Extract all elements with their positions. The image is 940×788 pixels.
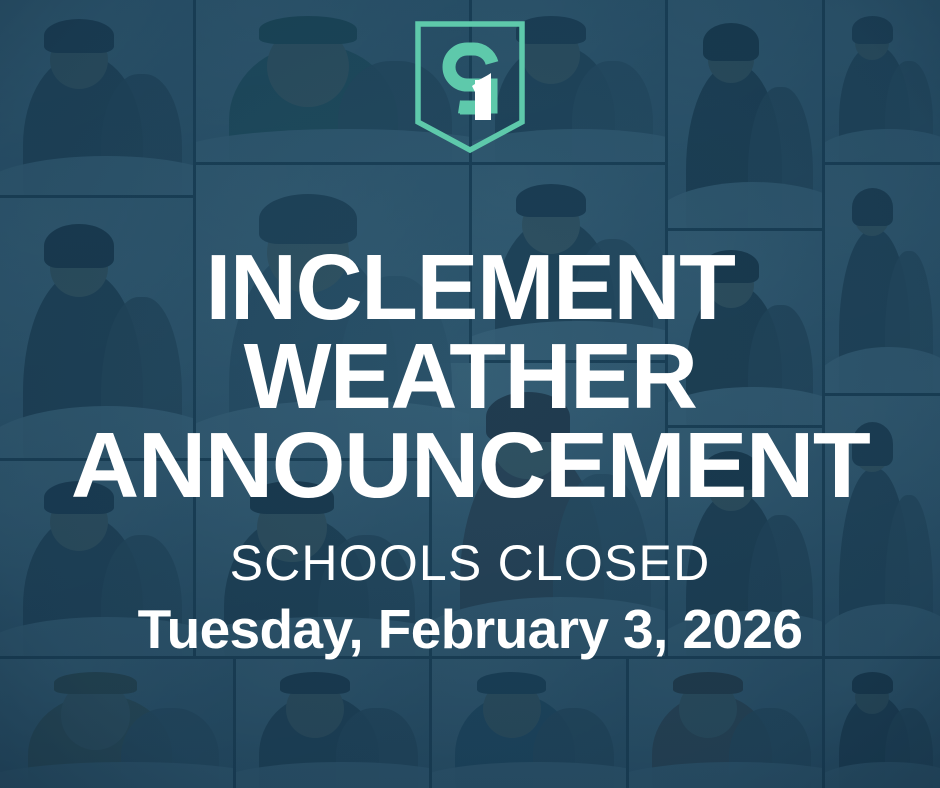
- subhead-block: SCHOOLS CLOSED Tuesday, February 3, 2026: [0, 536, 940, 659]
- headline-line-1: INCLEMENT: [0, 243, 940, 332]
- headline-line-2: WEATHER: [0, 332, 940, 421]
- headline-line-3: ANNOUNCEMENT: [0, 421, 940, 510]
- schools-closed-status: SCHOOLS CLOSED: [0, 536, 940, 590]
- headline: INCLEMENT WEATHER ANNOUNCEMENT: [0, 243, 940, 509]
- shield-s1-logo: [412, 18, 528, 156]
- closure-date: Tuesday, February 3, 2026: [0, 601, 940, 659]
- poster-content: INCLEMENT WEATHER ANNOUNCEMENT SCHOOLS C…: [0, 0, 940, 788]
- inclement-weather-poster: INCLEMENT WEATHER ANNOUNCEMENT SCHOOLS C…: [0, 0, 940, 788]
